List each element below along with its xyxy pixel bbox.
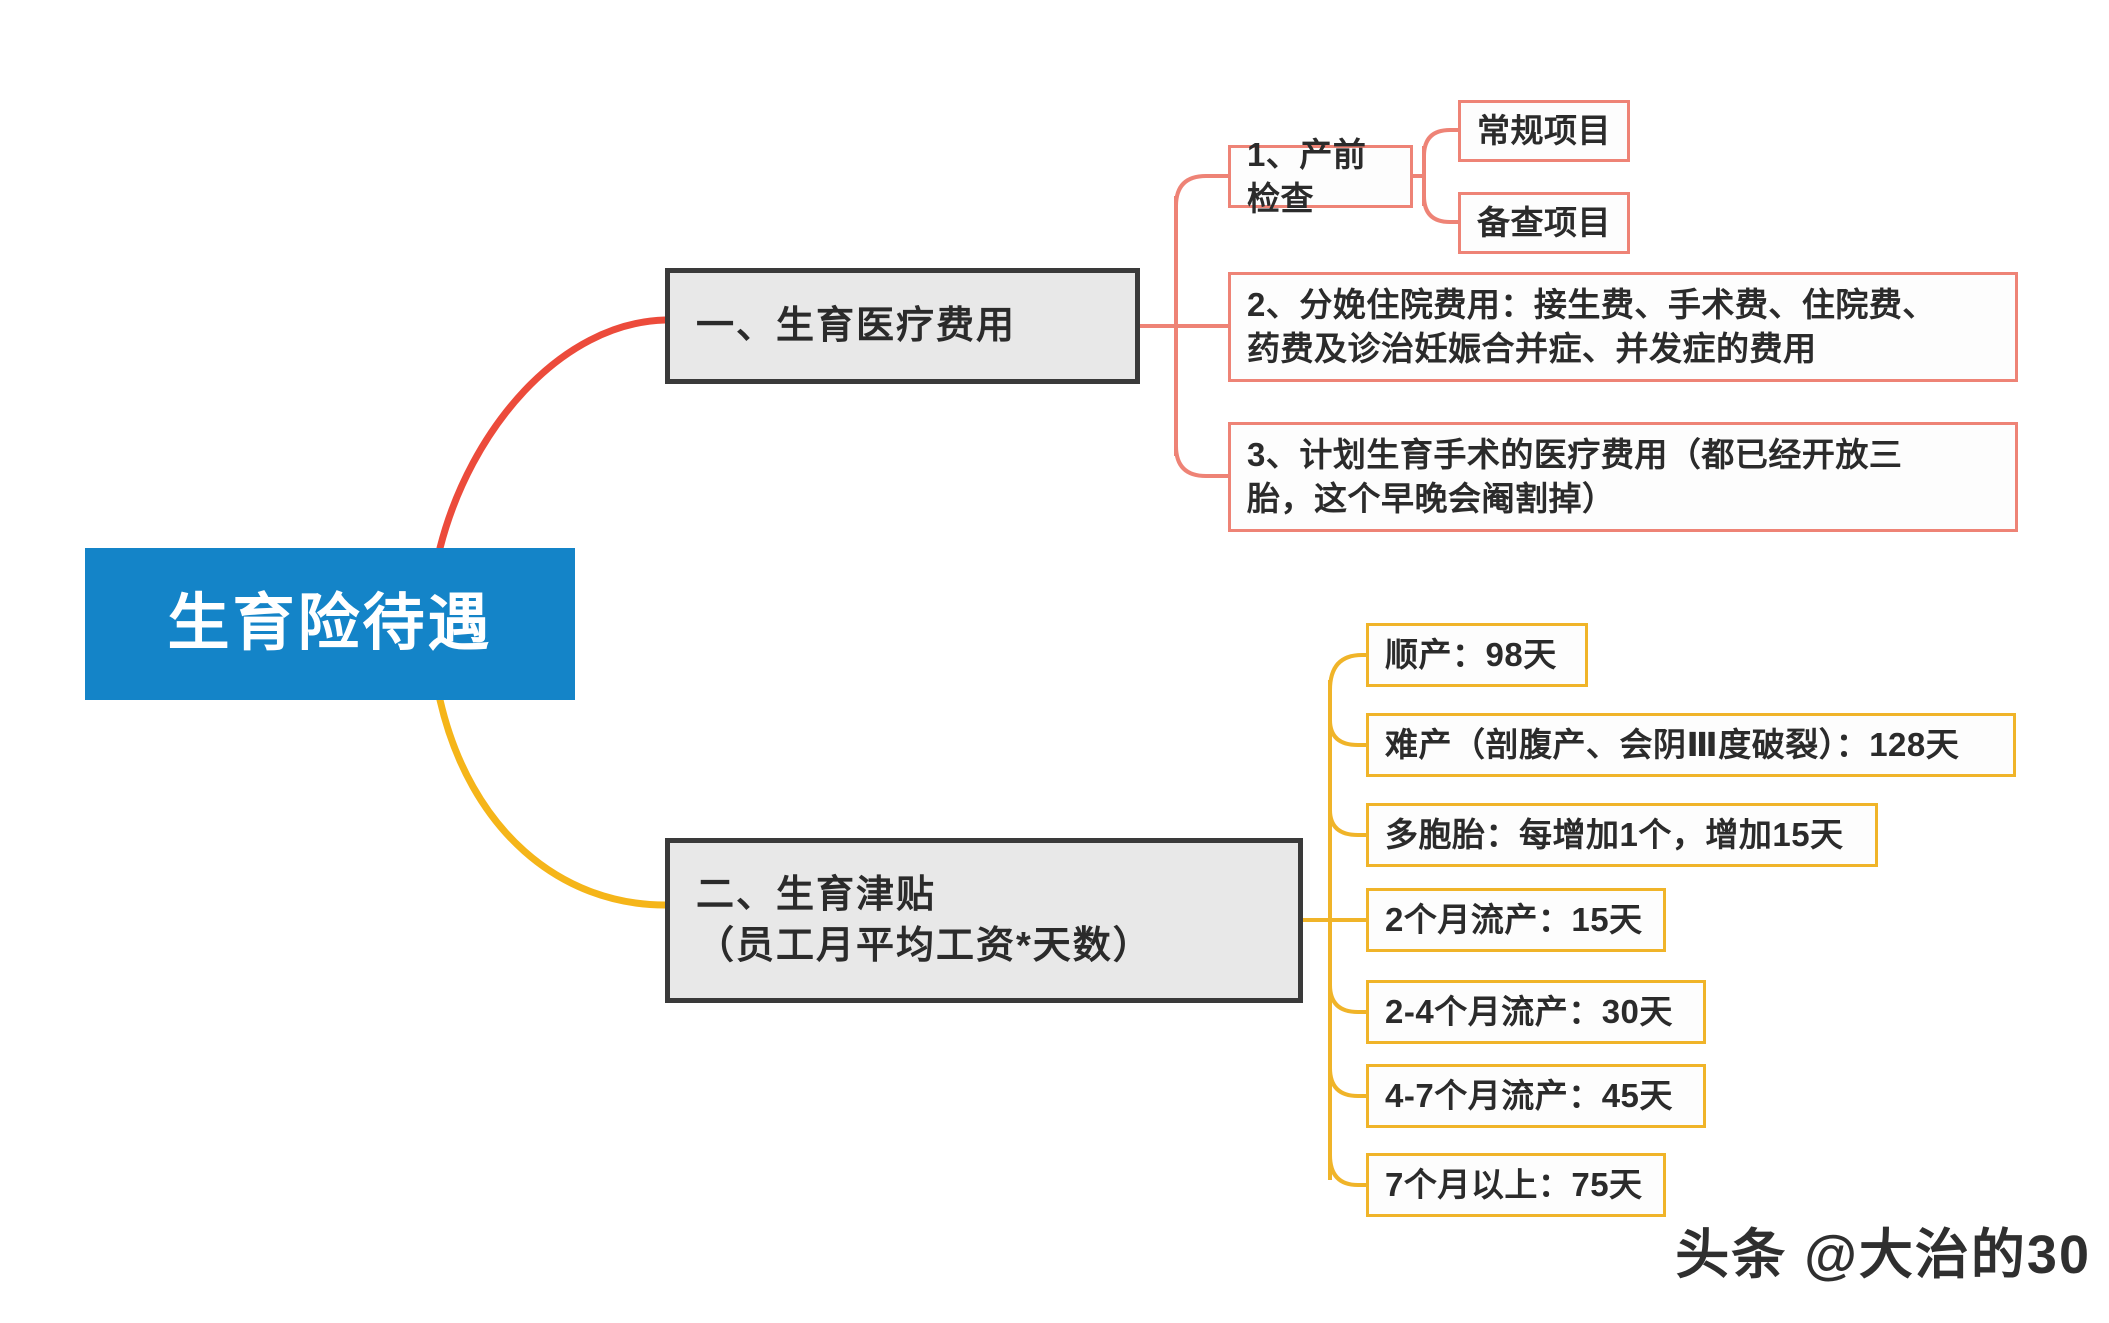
node-multiple-births[interactable]: 多胞胎：每增加1个，增加15天 [1366, 803, 1878, 867]
root-node-label: 生育险待遇 [85, 583, 575, 665]
branch-node-allowance[interactable]: 二、生育津贴 （员工月平均工资*天数） [665, 838, 1303, 1003]
node-delivery-hospital-fee[interactable]: 2、分娩住院费用：接生费、手术费、住院费、 药费及诊治妊娠合并症、并发症的费用 [1228, 272, 2018, 382]
node-miscarriage-2m-label: 2个月流产：15天 [1385, 898, 1647, 942]
link-allowance-child-1 [1330, 655, 1366, 690]
branch-node-medical[interactable]: 一、生育医疗费用 [665, 268, 1140, 384]
node-miscarriage-2to4m-label: 2-4个月流产：30天 [1385, 990, 1687, 1034]
node-optional-items-label: 备查项目 [1477, 201, 1611, 245]
mindmap-canvas: 生育险待遇 一、生育医疗费用 1、产前检查 常规项目 备查项目 2、分娩住院费用… [0, 0, 2109, 1323]
node-miscarriage-2to4m[interactable]: 2-4个月流产：30天 [1366, 980, 1706, 1044]
link-prenatal-child-1 [1424, 130, 1458, 156]
node-miscarriage-2m[interactable]: 2个月流产：15天 [1366, 888, 1666, 952]
branch-node-allowance-label: 二、生育津贴 （员工月平均工资*天数） [696, 870, 1272, 970]
root-node[interactable]: 生育险待遇 [85, 548, 575, 700]
node-difficult-delivery-label: 难产（剖腹产、会阴Ⅲ度破裂）：128天 [1385, 723, 1997, 767]
link-allowance-child-5 [1330, 985, 1366, 1012]
link-prenatal-child-2 [1424, 196, 1458, 222]
link-allowance-child-7 [1330, 1155, 1366, 1185]
node-routine-items[interactable]: 常规项目 [1458, 100, 1630, 162]
node-difficult-delivery[interactable]: 难产（剖腹产、会阴Ⅲ度破裂）：128天 [1366, 713, 2016, 777]
link-allowance-child-2 [1330, 720, 1366, 745]
node-family-planning-surgery-fee-label: 3、计划生育手术的医疗费用（都已经开放三 胎，这个早晚会阉割掉） [1247, 433, 1999, 520]
link-medical-child-3 [1176, 446, 1228, 476]
link-root-to-medical [440, 320, 665, 548]
node-optional-items[interactable]: 备查项目 [1458, 192, 1630, 254]
node-normal-delivery-label: 顺产：98天 [1385, 633, 1569, 677]
node-miscarriage-over7m-label: 7个月以上：75天 [1385, 1163, 1647, 1207]
watermark: 头条 @大治的30 [1675, 1210, 2091, 1289]
node-delivery-hospital-fee-label: 2、分娩住院费用：接生费、手术费、住院费、 药费及诊治妊娠合并症、并发症的费用 [1247, 283, 1999, 370]
node-normal-delivery[interactable]: 顺产：98天 [1366, 623, 1588, 687]
link-allowance-child-3 [1330, 810, 1366, 835]
watermark-text: 头条 @大治的30 [1675, 1225, 2091, 1285]
link-medical-child-1 [1176, 176, 1228, 206]
node-miscarriage-4to7m-label: 4-7个月流产：45天 [1385, 1074, 1687, 1118]
node-miscarriage-4to7m[interactable]: 4-7个月流产：45天 [1366, 1064, 1706, 1128]
link-root-to-allowance [440, 700, 665, 905]
node-family-planning-surgery-fee[interactable]: 3、计划生育手术的医疗费用（都已经开放三 胎，这个早晚会阉割掉） [1228, 422, 2018, 532]
node-prenatal-exam[interactable]: 1、产前检查 [1228, 145, 1413, 208]
node-multiple-births-label: 多胞胎：每增加1个，增加15天 [1385, 813, 1859, 857]
link-allowance-child-6 [1330, 1068, 1366, 1096]
node-routine-items-label: 常规项目 [1477, 109, 1611, 153]
node-miscarriage-over7m[interactable]: 7个月以上：75天 [1366, 1153, 1666, 1217]
branch-node-medical-label: 一、生育医疗费用 [696, 301, 1109, 351]
node-prenatal-exam-label: 1、产前检查 [1247, 133, 1394, 220]
